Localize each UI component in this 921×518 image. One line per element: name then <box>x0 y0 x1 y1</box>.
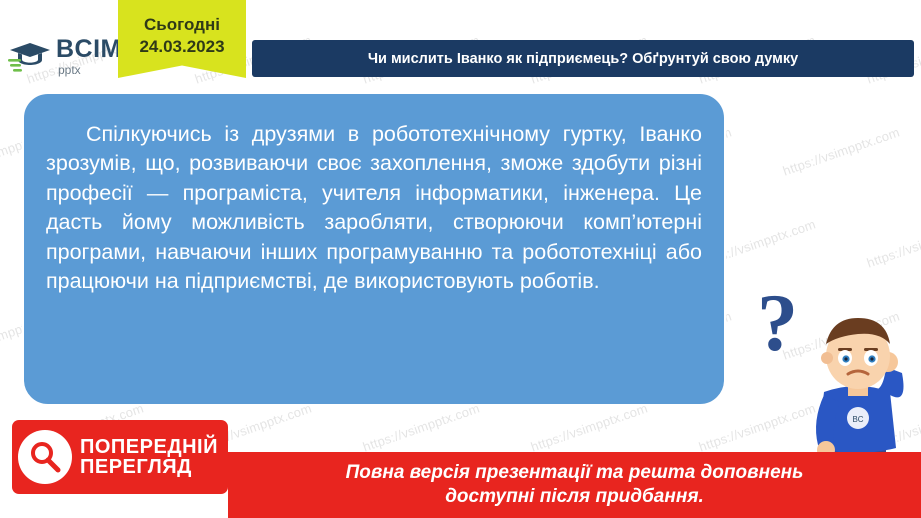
date-badge-label: Сьогодні <box>144 15 220 35</box>
purchase-notice-bar: Повна версія презентації та решта доповн… <box>228 452 921 518</box>
brand-logo-text: BCIM pptx <box>56 37 122 76</box>
purchase-notice-line2: доступні після придбання. <box>445 485 704 509</box>
content-paragraph: Спілкуючись із друзями в робототехнічном… <box>24 94 724 297</box>
slide-title-bar: Чи мислить Іванко як підприємець? Обґрун… <box>252 40 914 77</box>
magnifier-icon <box>18 430 72 484</box>
content-card: Спілкуючись із друзями в робототехнічном… <box>22 92 726 406</box>
preview-badge-text: ПОПЕРЕДНІЙ ПЕРЕГЛЯД <box>80 437 218 478</box>
watermark-text: https://vsimpptx.com <box>361 400 482 454</box>
preview-badge: ПОПЕРЕДНІЙ ПЕРЕГЛЯД <box>12 420 228 494</box>
svg-text:BC: BC <box>852 415 863 424</box>
purchase-notice-line1: Повна версія презентації та решта доповн… <box>346 461 804 485</box>
watermark-text: https://vsimpptx.com <box>865 216 921 270</box>
question-mark-icon: ? <box>757 282 798 364</box>
brand-name: BCIM <box>56 37 122 62</box>
page-title: Чи мислить Іванко як підприємець? Обґрун… <box>354 51 812 67</box>
watermark-text: https://vsimpptx.com <box>781 124 902 178</box>
graduation-cap-icon <box>8 39 52 73</box>
preview-badge-line1: ПОПЕРЕДНІЙ <box>80 437 218 457</box>
watermark-text: https://vsimpptx.com <box>529 400 650 454</box>
date-badge-date: 24.03.2023 <box>139 37 224 57</box>
brand-subtitle: pptx <box>58 64 122 76</box>
preview-badge-line2: ПЕРЕГЛЯД <box>80 457 218 477</box>
date-badge: Сьогодні 24.03.2023 <box>118 0 246 78</box>
slide-canvas: https://vsimpptx.comhttps://vsimpptx.com… <box>0 0 921 518</box>
